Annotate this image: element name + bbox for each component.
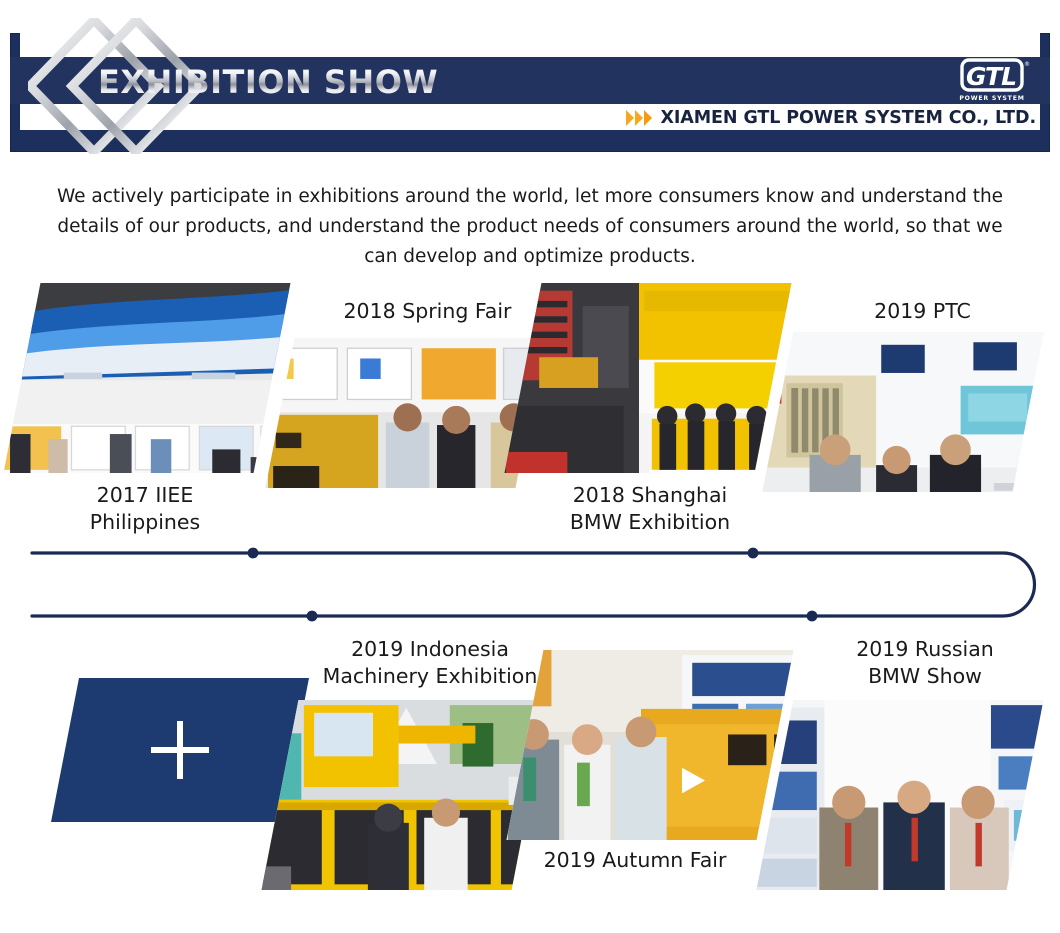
gallery-photo-6-image — [507, 650, 794, 840]
gallery-caption-2: 2018 Spring Fair — [320, 298, 535, 325]
gallery-photo-7-image — [757, 700, 1044, 890]
exhibition-show-page: EXHIBITION SHOW GTL ® POWER SYSTEM XIAME… — [0, 0, 1060, 933]
timeline-connector — [0, 528, 1060, 638]
timeline-node-dot-icon — [307, 611, 318, 622]
company-name: XIAMEN GTL POWER SYSTEM CO., LTD. — [661, 108, 1037, 128]
gallery-photo-4[interactable] — [762, 332, 1043, 492]
gallery-caption-7: 2019 Russian BMW Show — [825, 636, 1025, 690]
gallery-photo-1-image — [4, 283, 291, 473]
timeline-node-dot-icon — [748, 548, 759, 559]
timeline-node-dot-icon — [248, 548, 259, 559]
svg-text:POWER SYSTEM: POWER SYSTEM — [959, 95, 1024, 102]
timeline-node-dot-icon — [807, 611, 818, 622]
gallery-photo-2[interactable] — [265, 338, 544, 488]
svg-text:GTL: GTL — [966, 62, 1016, 91]
gallery-photo-3[interactable] — [505, 283, 792, 473]
header-white-strip-top — [20, 27, 1040, 57]
gtl-logo-icon: GTL ® POWER SYSTEM — [958, 58, 1030, 104]
gallery-caption-6: 2019 Autumn Fair — [515, 847, 755, 874]
gallery-photo-4-image — [762, 332, 1043, 492]
page-title: EXHIBITION SHOW — [98, 62, 438, 102]
gallery-photo-5-image — [262, 700, 549, 890]
gallery-photo-2-image — [265, 338, 544, 488]
gallery-caption-5: 2019 Indonesia Machinery Exhibition — [300, 636, 560, 690]
company-name-row: XIAMEN GTL POWER SYSTEM CO., LTD. — [626, 106, 1037, 130]
add-photo-tile[interactable] — [51, 678, 309, 822]
gallery-caption-4: 2019 PTC — [830, 298, 1015, 325]
gallery-photo-1[interactable] — [4, 283, 291, 473]
gallery-photo-7[interactable] — [757, 700, 1044, 890]
gallery-photo-3-image — [505, 283, 792, 473]
gallery-photo-6[interactable] — [507, 650, 794, 840]
svg-text:®: ® — [1024, 61, 1030, 68]
intro-paragraph: We actively participate in exhibitions a… — [45, 182, 1015, 272]
gallery-photo-5[interactable] — [262, 700, 549, 890]
plus-icon — [151, 721, 209, 779]
triple-chevron-right-icon — [626, 110, 652, 126]
page-header: EXHIBITION SHOW GTL ® POWER SYSTEM XIAME… — [10, 18, 1050, 154]
